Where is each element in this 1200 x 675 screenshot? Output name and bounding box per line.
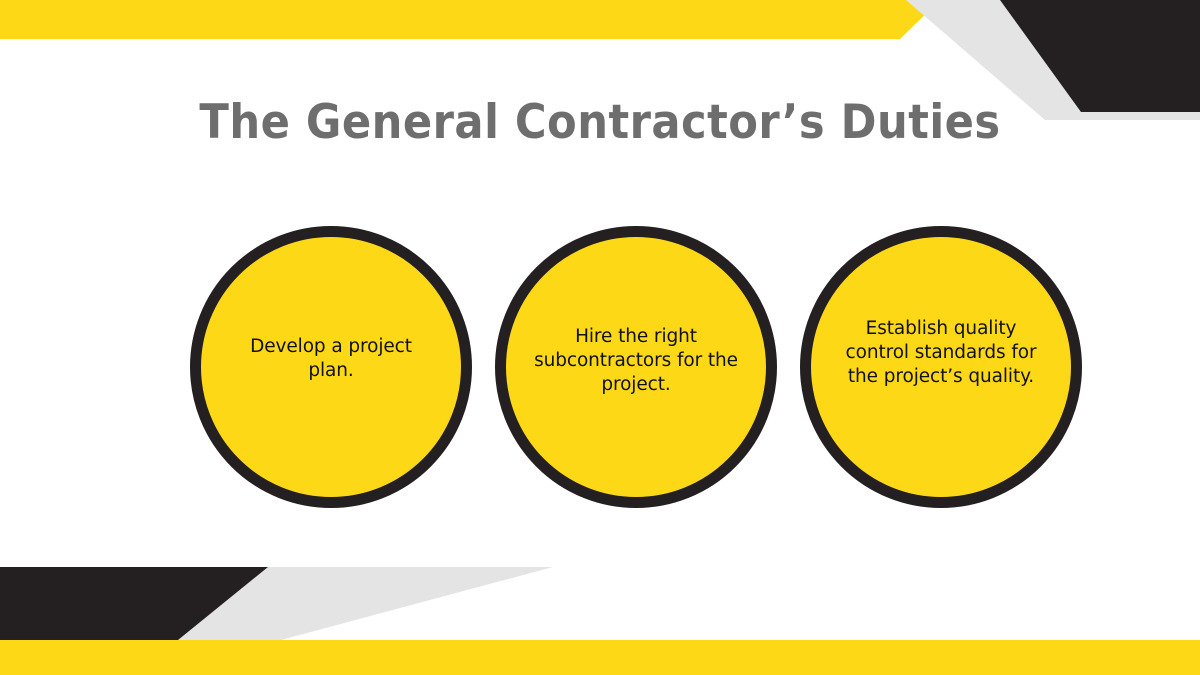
bottom-left-dark-wedge — [0, 567, 268, 640]
duty-circle-3[interactable]: Establish quality control standards for … — [800, 226, 1082, 508]
duty-circle-1[interactable]: Develop a project plan. — [190, 226, 472, 508]
duties-circle-group: Develop a project plan. Hire the right s… — [190, 226, 1082, 510]
page-title: The General Contractor’s Duties — [48, 96, 1152, 150]
duty-circle-3-label: Establish quality control standards for … — [834, 317, 1048, 388]
duty-circle-1-label: Develop a project plan. — [227, 335, 435, 382]
top-yellow-bar — [0, 0, 940, 39]
duty-circle-2[interactable]: Hire the right subcontractors for the pr… — [495, 226, 777, 508]
duty-circle-2-label: Hire the right subcontractors for the pr… — [529, 325, 743, 396]
bottom-yellow-bar — [0, 640, 1200, 675]
bottom-left-gray-band — [0, 567, 553, 640]
slide-canvas: The General Contractor’s Duties Develop … — [0, 0, 1200, 675]
